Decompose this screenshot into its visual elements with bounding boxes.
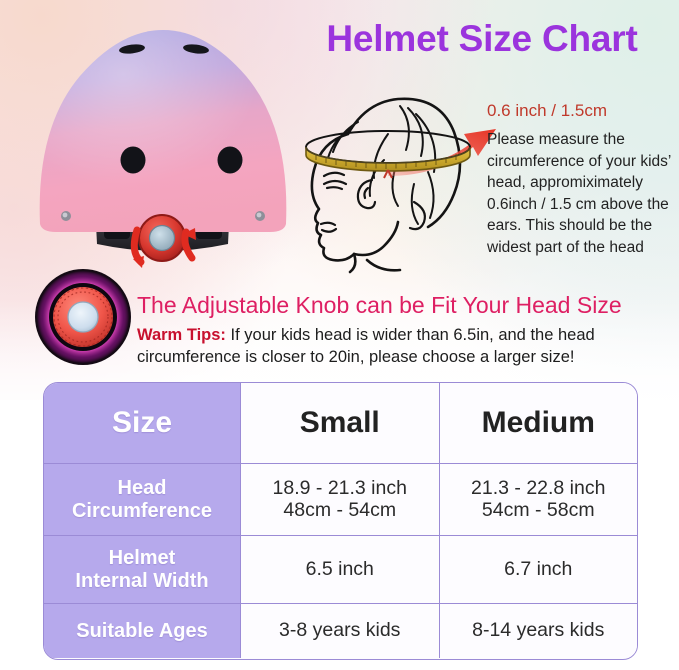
cell-head-circumference-medium: 21.3 - 22.8 inch 54cm - 58cm	[439, 464, 638, 535]
cell-helmet-internal-width-medium: 6.7 inch	[439, 536, 638, 603]
size-chart-table: Size Small Medium Head Circumference 18.…	[43, 382, 638, 660]
cell-suitable-ages-small: 3-8 years kids	[241, 604, 439, 658]
head-profile-measuring-diagram	[288, 72, 503, 277]
page-title: Helmet Size Chart	[295, 18, 669, 60]
table-row: Helmet Internal Width 6.5 inch 6.7 inch	[44, 535, 637, 603]
table-row: Head Circumference 18.9 - 21.3 inch 48cm…	[44, 463, 637, 535]
row-label-suitable-ages: Suitable Ages	[44, 604, 241, 658]
adjustable-knob-headline: The Adjustable Knob can be Fit Your Head…	[137, 292, 667, 319]
warm-tips: Warm Tips: If your kids head is wider th…	[137, 324, 661, 368]
row-label-head-circumference: Head Circumference	[44, 464, 241, 535]
table-header-row: Size Small Medium	[44, 383, 637, 463]
cell-helmet-internal-width-small: 6.5 inch	[241, 536, 439, 603]
helmet-illustration	[20, 8, 305, 270]
measure-callout-heading: 0.6 inch / 1.5cm	[487, 101, 677, 121]
cell-head-circumference-small: 18.9 - 21.3 inch 48cm - 54cm	[241, 464, 439, 535]
helmet-adjust-knob	[139, 215, 185, 261]
row-label-helmet-internal-width: Helmet Internal Width	[44, 536, 241, 603]
table-row: Suitable Ages 3-8 years kids 8-14 years …	[44, 603, 637, 658]
measure-callout-body: Please measure the circumference of your…	[487, 129, 675, 258]
measuring-tape	[306, 131, 470, 178]
cell-suitable-ages-medium: 8-14 years kids	[439, 604, 638, 658]
table-header-size: Size	[44, 383, 241, 463]
table-header-small: Small	[241, 383, 439, 463]
warm-tips-label: Warm Tips:	[137, 326, 226, 344]
helmet-size-chart-page: Helmet Size Chart	[0, 0, 679, 670]
table-header-medium: Medium	[439, 383, 638, 463]
adjustable-knob-icon	[33, 267, 133, 367]
